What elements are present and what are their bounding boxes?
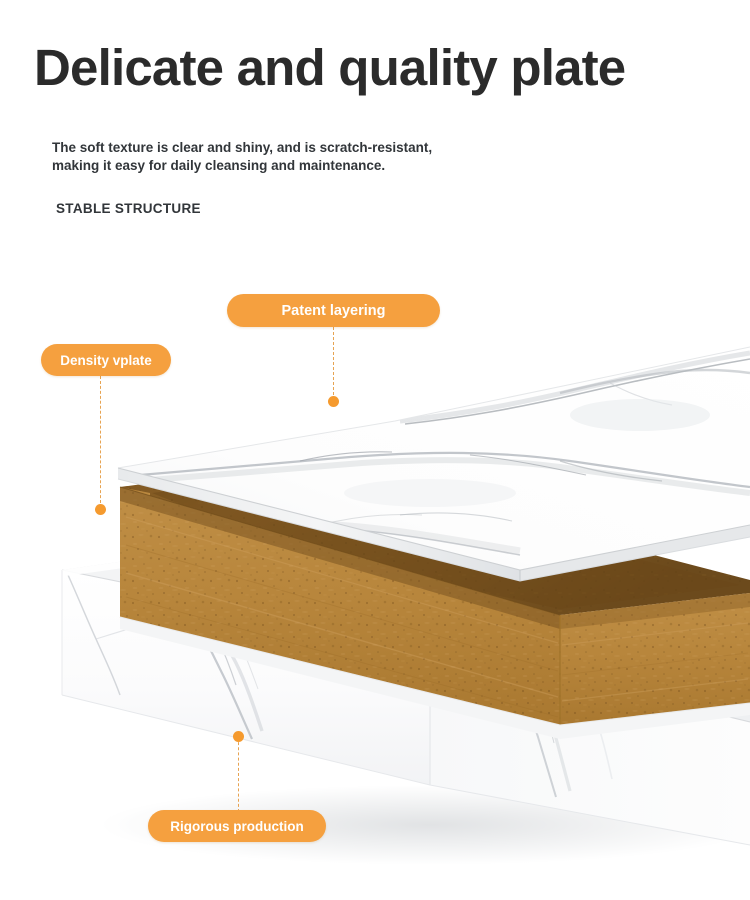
connector-dot-rigorous-production xyxy=(233,731,244,742)
subtitle-text: The soft texture is clear and shiny, and… xyxy=(52,139,432,175)
callout-rigorous-production[interactable]: Rigorous production xyxy=(148,810,326,842)
callout-patent-layering[interactable]: Patent layering xyxy=(227,294,440,327)
connector-line-density-vplate xyxy=(100,376,101,508)
callout-density-vplate[interactable]: Density vplate xyxy=(41,344,171,376)
product-infographic-page: Delicate and quality plate The soft text… xyxy=(0,0,750,900)
connector-line-patent-layering xyxy=(333,327,334,400)
connector-dot-density-vplate xyxy=(95,504,106,515)
connector-dot-patent-layering xyxy=(328,396,339,407)
section-label-stable-structure: STABLE STRUCTURE xyxy=(56,200,201,218)
page-title: Delicate and quality plate xyxy=(34,38,625,98)
connector-line-rigorous-production xyxy=(238,737,239,812)
